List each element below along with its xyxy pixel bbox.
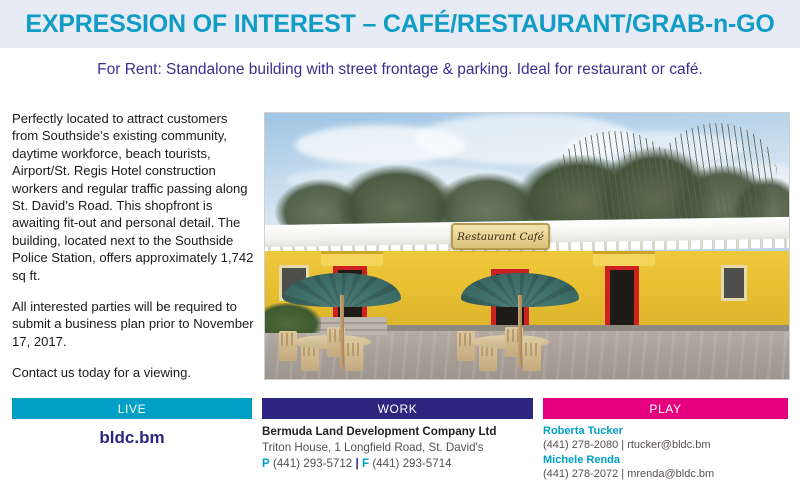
contact-name: Michele Renda bbox=[543, 453, 793, 467]
photo-scene: Restaurant Café bbox=[265, 113, 789, 379]
footer-column-live: bldc.bm bbox=[12, 428, 252, 448]
description-paragraph-1: Perfectly located to attract customers f… bbox=[12, 110, 255, 284]
fax-number: (441) 293-5714 bbox=[372, 457, 451, 470]
page-subtitle: For Rent: Standalone building with stree… bbox=[97, 61, 703, 79]
description-column: Perfectly located to attract customers f… bbox=[12, 110, 255, 382]
description-paragraph-3: Contact us today for a viewing. bbox=[12, 364, 255, 381]
property-photo: Restaurant Café bbox=[264, 112, 790, 380]
footer-bar-work: WORK bbox=[262, 398, 533, 419]
footer-column-play: Roberta Tucker (441) 278-2080 | rtucker@… bbox=[543, 424, 793, 482]
umbrella-pole bbox=[518, 295, 522, 367]
building-window bbox=[721, 265, 747, 301]
phone-separator: | bbox=[356, 457, 359, 470]
phone-label: P bbox=[262, 457, 270, 470]
header-band: EXPRESSION OF INTEREST – CAFÉ/RESTAURANT… bbox=[0, 0, 800, 48]
phone-number: (441) 293-5712 bbox=[273, 457, 352, 470]
footer-column-work: Bermuda Land Development Company Ltd Tri… bbox=[262, 424, 533, 472]
door-canopy bbox=[593, 251, 655, 266]
door-canopy bbox=[321, 251, 383, 266]
footer-bar-play: PLAY bbox=[543, 398, 788, 419]
website-link[interactable]: bldc.bm bbox=[12, 428, 252, 448]
company-name: Bermuda Land Development Company Ltd bbox=[262, 424, 533, 440]
fax-label: F bbox=[362, 457, 369, 470]
sign-text: Restaurant Café bbox=[457, 231, 544, 243]
company-address: Triton House, 1 Longfield Road, St. Davi… bbox=[262, 440, 533, 456]
description-paragraph-2: All interested parties will be required … bbox=[12, 298, 255, 350]
footer-bar-live-label: LIVE bbox=[118, 402, 146, 416]
bare-tree bbox=[657, 123, 777, 227]
contact-details[interactable]: (441) 278-2072 | mrenda@bldc.bm bbox=[543, 467, 793, 482]
contact-name: Roberta Tucker bbox=[543, 424, 793, 438]
red-door bbox=[605, 265, 639, 331]
chair bbox=[523, 341, 541, 371]
footer-bar-play-label: PLAY bbox=[649, 402, 681, 416]
umbrella-pole bbox=[340, 295, 344, 367]
footer-bar-work-label: WORK bbox=[378, 402, 418, 416]
shrub bbox=[265, 303, 321, 333]
chair bbox=[345, 341, 363, 371]
restaurant-cafe-sign: Restaurant Café bbox=[451, 223, 550, 250]
footer-bar-live: LIVE bbox=[12, 398, 252, 419]
chair bbox=[457, 331, 475, 361]
company-phone-line: P (441) 293-5712 | F (441) 293-5714 bbox=[262, 456, 533, 472]
page-title: EXPRESSION OF INTEREST – CAFÉ/RESTAURANT… bbox=[25, 10, 774, 39]
subtitle-row: For Rent: Standalone building with stree… bbox=[0, 48, 800, 92]
contact-details[interactable]: (441) 278-2080 | rtucker@bldc.bm bbox=[543, 438, 793, 453]
chair bbox=[279, 331, 297, 361]
entrance-steps bbox=[311, 317, 387, 335]
